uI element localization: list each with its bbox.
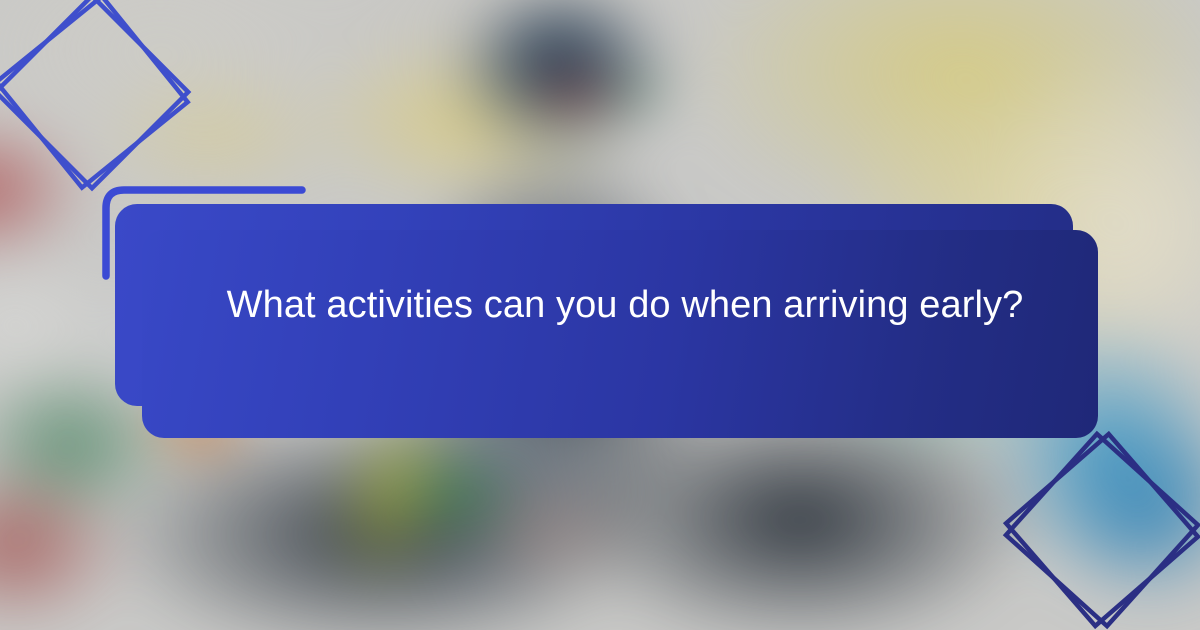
decor-squares-bottom-right	[990, 418, 1200, 630]
decor-square-a	[0, 0, 188, 188]
decor-square-d	[1006, 434, 1198, 626]
banner-stage: What activities can you do when arriving…	[0, 0, 1200, 630]
bg-blob-skin-right	[460, 470, 640, 590]
decor-squares-top-left	[0, 0, 224, 204]
headline-text: What activities can you do when arriving…	[150, 252, 1100, 422]
decor-square-c	[1006, 434, 1198, 626]
bg-blob-visor-green	[600, 68, 670, 112]
decor-square-b	[0, 0, 188, 188]
